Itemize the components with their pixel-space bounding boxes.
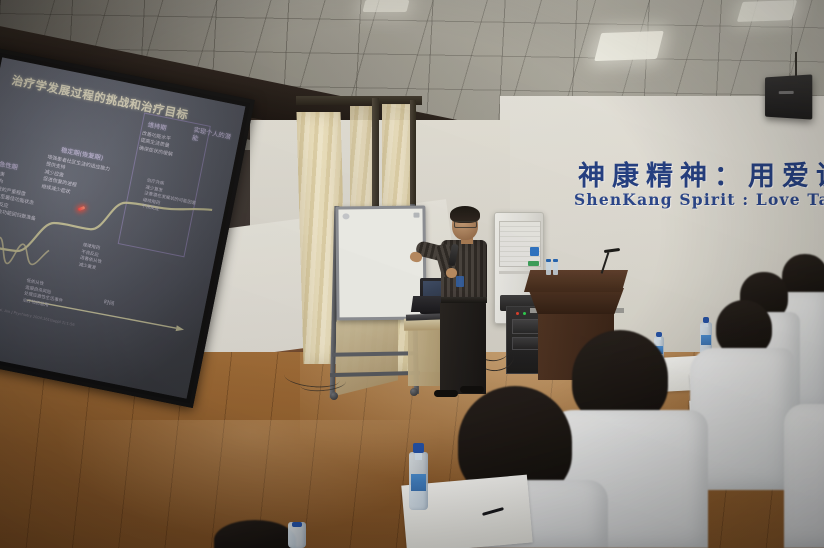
wall-sign-english: ShenKang Spirit : Love Ta <box>574 190 824 209</box>
speaker-brand-plate <box>779 91 794 94</box>
whiteboard-magnet-icon <box>413 213 419 218</box>
lectern-water-bottles <box>546 262 562 275</box>
conference-room-photo: 治疗学发展过程的挑战和治疗目标 时间 急性期 防止伤害 控制行为 <box>0 0 824 548</box>
power-led-icon <box>516 312 519 315</box>
ac-badge-icon <box>530 247 539 256</box>
whiteboard-caster <box>410 388 418 396</box>
audience-white-coat <box>784 404 824 548</box>
presenter-belt <box>441 297 487 303</box>
presenter-legs <box>440 302 486 394</box>
water-bottle <box>409 452 428 510</box>
presenter-badge <box>456 276 464 287</box>
presenter-shoe <box>434 390 458 397</box>
presenter-right-hand <box>446 268 457 278</box>
eyeglasses-icon <box>454 221 477 228</box>
whiteboard-magnet-icon <box>342 213 349 219</box>
ceiling-speaker-icon <box>765 74 812 119</box>
whiteboard-caster <box>330 392 338 400</box>
water-bottle-cap <box>288 522 306 548</box>
slide-risk-notes: 低依从性 滥服自杀风险 处理应激性生活事件 治疗物质滥用 <box>22 279 66 313</box>
window-mullion <box>410 100 416 220</box>
speaker-mount-rod <box>795 52 797 78</box>
ceiling-light-panel <box>363 0 410 12</box>
wall-sign-chinese: 神康精神：用爱说话 <box>578 154 824 193</box>
slide-axis-label: 时间 <box>103 298 115 307</box>
ac-badge-icon <box>528 261 539 266</box>
ceiling-light-panel <box>737 0 797 22</box>
lectern-top <box>524 270 628 292</box>
ceiling-light-panel <box>594 31 664 61</box>
presenter-shoe <box>460 386 484 393</box>
power-led-icon <box>523 312 526 315</box>
